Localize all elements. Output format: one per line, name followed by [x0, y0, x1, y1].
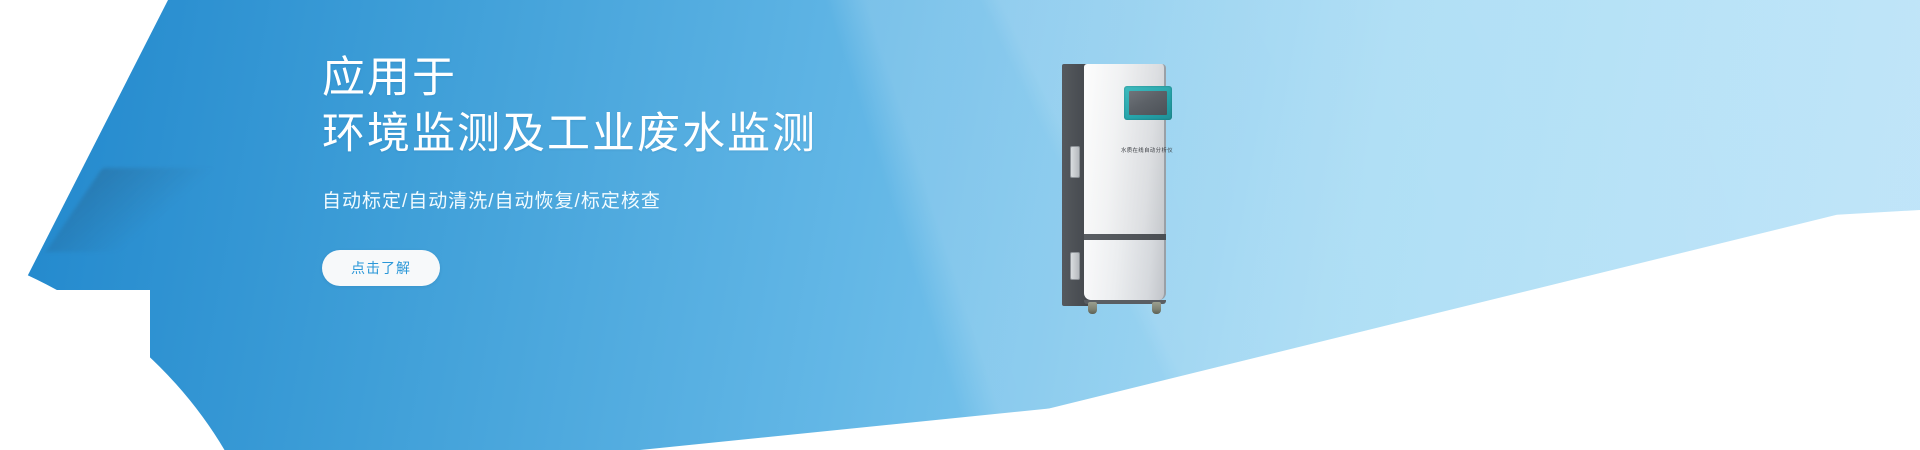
- device-caster-left-icon: [1088, 302, 1097, 314]
- hero-copy-block: 应用于 环境监测及工业废水监测 自动标定/自动清洗/自动恢复/标定核查 点击了解: [322, 50, 1082, 286]
- headline-line-1: 应用于: [322, 50, 1082, 106]
- decor-bottom-left-fill: [0, 290, 150, 450]
- hero-subtitle: 自动标定/自动清洗/自动恢复/标定核查: [322, 188, 1082, 216]
- device-product-label: 水质在线自动分析仪: [1110, 146, 1184, 154]
- device-caster-right-icon: [1152, 302, 1161, 314]
- learn-more-button[interactable]: 点击了解: [322, 250, 440, 286]
- device-lower-cabinet: [1084, 240, 1166, 300]
- hero-banner: 应用于 环境监测及工业废水监测 自动标定/自动清洗/自动恢复/标定核查 点击了解…: [0, 0, 1920, 450]
- headline-line-2: 环境监测及工业废水监测: [322, 106, 1082, 162]
- device-upper-cabinet: 水质在线自动分析仪: [1084, 64, 1166, 236]
- device-screen: [1129, 91, 1167, 115]
- device-display-bezel: [1124, 86, 1172, 120]
